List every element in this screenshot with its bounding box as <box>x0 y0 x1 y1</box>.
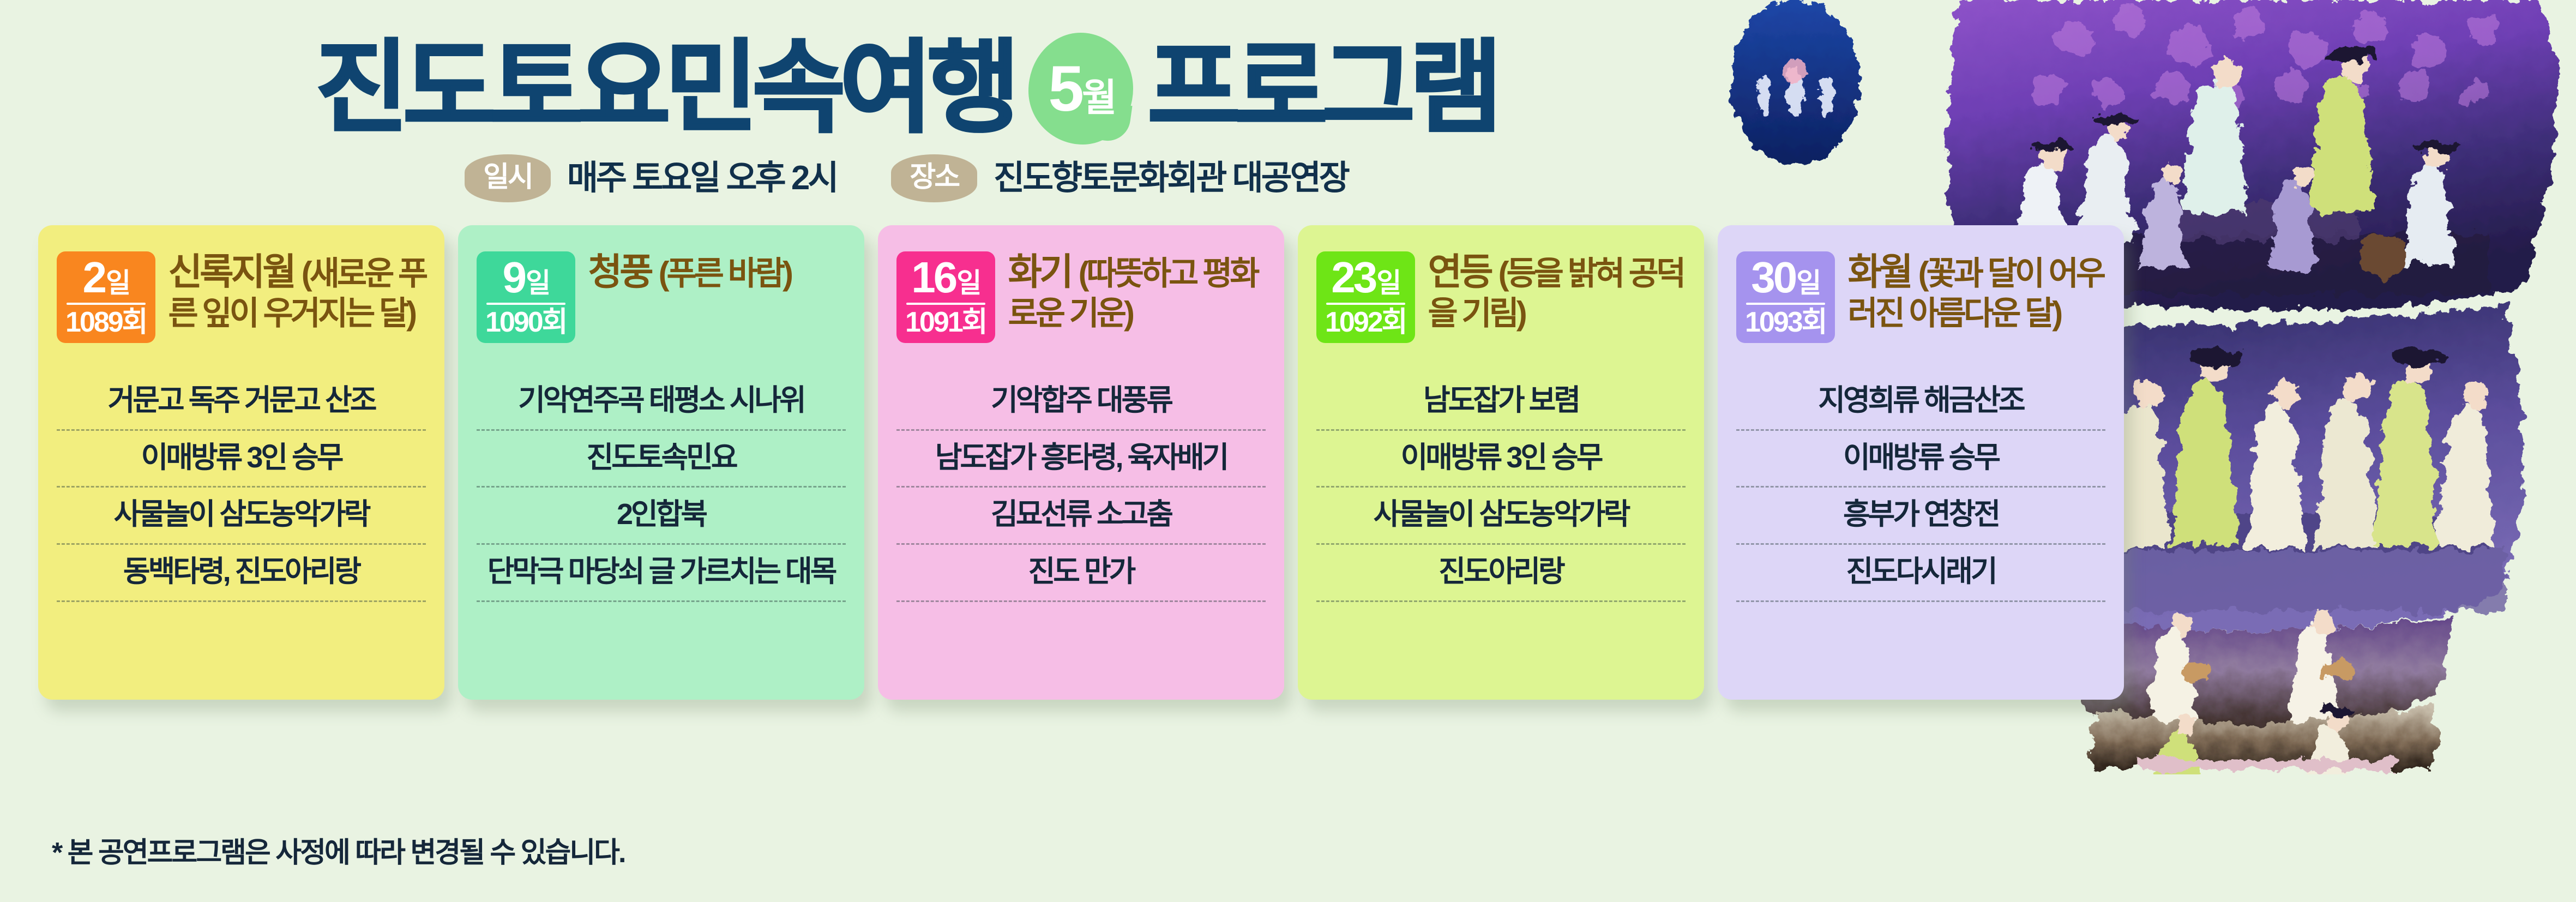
program-item: 이매방류 3인 승무 <box>57 429 426 486</box>
badge-sequence: 1092회 <box>1325 308 1406 336</box>
place-chip-label: 장소 <box>891 154 977 202</box>
badge-sequence: 1093회 <box>1745 308 1826 336</box>
event-meta: 일시 매주 토요일 오후 2시 장소 진도향토문화회관 대공연장 <box>0 154 2576 202</box>
card-title-sub: (푸른 바람) <box>659 255 791 292</box>
badge-sequence: 1089회 <box>65 308 147 336</box>
program-item: 진도다시래기 <box>1736 543 2105 600</box>
card-title-main: 화월 <box>1848 251 1911 293</box>
badge-day-unit: 일 <box>1376 270 1400 297</box>
disclaimer-note: * 본 공연프로그램은 사정에 따라 변경될 수 있습니다. <box>52 829 624 870</box>
program-list-end-divider <box>1736 600 2105 602</box>
program-card[interactable]: 23일 1092회 연등 (등을 밝혀 공덕을 기림) 남도잡가 보렴 이매방류… <box>1298 225 1704 700</box>
badge-divider <box>1326 303 1405 305</box>
badge-sequence: 1091회 <box>905 308 986 336</box>
badge-day-unit: 일 <box>956 270 980 297</box>
program-item-list: 기악합주 대풍류 남도잡가 흥타령, 육자배기 김묘선류 소고춤 진도 만가 <box>896 374 1266 602</box>
program-item-list: 남도잡가 보렴 이매방류 3인 승무 사물놀이 삼도농악가락 진도아리랑 <box>1316 374 1686 602</box>
card-header: 9일 1090회 청풍 (푸른 바람) <box>477 251 846 343</box>
program-list-end-divider <box>57 600 426 602</box>
badge-divider <box>906 303 985 305</box>
card-title-main: 청풍 <box>588 251 651 293</box>
page-title: 진도토요민속여행 5월 프로그램 <box>0 33 2576 145</box>
badge-day-number: 16 <box>911 257 955 298</box>
month-badge-text: 5월 <box>1048 57 1114 121</box>
badge-day-number: 23 <box>1331 257 1375 298</box>
program-list-end-divider <box>477 600 846 602</box>
badge-day: 30일 <box>1745 257 1826 298</box>
program-card[interactable]: 9일 1090회 청풍 (푸른 바람) 기악연주곡 태평소 시나위 진도토속민요… <box>458 225 864 700</box>
date-badge: 16일 1091회 <box>896 251 995 343</box>
badge-day: 23일 <box>1325 257 1406 298</box>
program-item: 남도잡가 흥타령, 육자배기 <box>896 429 1266 486</box>
poster-root: 진도토요민속여행 5월 프로그램 일시 매주 토요일 오후 2시 장소 진도향토… <box>0 0 2576 902</box>
collage-photo-bottom <box>2092 705 2439 774</box>
badge-day-unit: 일 <box>1796 270 1820 297</box>
card-title: 화월 (꽃과 달이 어우러진 아름다운 달) <box>1848 252 2105 333</box>
badge-divider <box>1746 303 1825 305</box>
card-title-main: 신록지월 <box>168 251 294 293</box>
badge-day-number: 2 <box>83 257 105 298</box>
date-badge: 30일 1093회 <box>1736 251 1835 343</box>
program-list-end-divider <box>896 600 1266 602</box>
badge-day: 16일 <box>905 257 986 298</box>
program-item: 기악연주곡 태평소 시나위 <box>477 374 846 429</box>
program-card[interactable]: 16일 1091회 화기 (따뜻하고 평화로운 기운) 기악합주 대풍류 남도잡… <box>878 225 1284 700</box>
program-item: 진도 만가 <box>896 543 1266 600</box>
card-title-main: 화기 <box>1008 251 1071 293</box>
program-item: 김묘선류 소고춤 <box>896 486 1266 543</box>
place-value: 진도향토문화회관 대공연장 <box>994 161 1348 195</box>
date-value: 매주 토요일 오후 2시 <box>567 161 836 195</box>
badge-day: 2일 <box>65 257 147 298</box>
program-card[interactable]: 2일 1089회 신록지월 (새로운 푸른 잎이 우거지는 달) 거문고 독주 … <box>38 225 444 700</box>
program-item: 이매방류 승무 <box>1736 429 2105 486</box>
program-list-end-divider <box>1316 600 1686 602</box>
program-item: 사물놀이 삼도농악가락 <box>57 486 426 543</box>
program-item-list: 거문고 독주 거문고 산조 이매방류 3인 승무 사물놀이 삼도농악가락 동백타… <box>57 374 426 602</box>
card-title: 연등 (등을 밝혀 공덕을 기림) <box>1428 252 1686 333</box>
program-item: 남도잡가 보렴 <box>1316 374 1686 429</box>
program-item: 기악합주 대풍류 <box>896 374 1266 429</box>
program-card[interactable]: 30일 1093회 화월 (꽃과 달이 어우러진 아름다운 달) 지영희류 해금… <box>1718 225 2124 700</box>
badge-day-unit: 일 <box>106 270 129 297</box>
card-title: 신록지월 (새로운 푸른 잎이 우거지는 달) <box>168 252 426 333</box>
program-item: 진도토속민요 <box>477 429 846 486</box>
card-header: 30일 1093회 화월 (꽃과 달이 어우러진 아름다운 달) <box>1736 251 2105 343</box>
card-header: 23일 1092회 연등 (등을 밝혀 공덕을 기림) <box>1316 251 1686 343</box>
badge-day-unit: 일 <box>526 270 549 297</box>
program-item: 지영희류 해금산조 <box>1736 374 2105 429</box>
card-title-main: 연등 <box>1428 251 1491 293</box>
title-part-2: 프로그램 <box>1147 38 1497 139</box>
card-title: 화기 (따뜻하고 평화로운 기운) <box>1008 252 1266 333</box>
badge-sequence: 1090회 <box>485 308 567 336</box>
month-number: 5 <box>1048 57 1081 121</box>
card-header: 16일 1091회 화기 (따뜻하고 평화로운 기운) <box>896 251 1266 343</box>
program-item: 동백타령, 진도아리랑 <box>57 543 426 600</box>
program-item: 사물놀이 삼도농악가락 <box>1316 486 1686 543</box>
badge-day-number: 30 <box>1751 257 1795 298</box>
program-item: 단막극 마당쇠 글 가르치는 대목 <box>477 543 846 600</box>
date-chip-label: 일시 <box>465 154 551 202</box>
program-item-list: 지영희류 해금산조 이매방류 승무 흥부가 연창전 진도다시래기 <box>1736 374 2105 602</box>
date-badge: 9일 1090회 <box>477 251 575 343</box>
title-part-1: 진도토요민속여행 <box>316 38 1015 139</box>
program-item: 흥부가 연창전 <box>1736 486 2105 543</box>
month-unit: 월 <box>1082 79 1114 117</box>
badge-day-number: 9 <box>503 257 525 298</box>
badge-day: 9일 <box>485 257 567 298</box>
program-item: 2인합북 <box>477 486 846 543</box>
program-item: 진도아리랑 <box>1316 543 1686 600</box>
date-badge: 2일 1089회 <box>57 251 155 343</box>
month-badge-icon: 5월 <box>1028 33 1133 145</box>
badge-divider <box>67 303 146 305</box>
program-card-list: 2일 1089회 신록지월 (새로운 푸른 잎이 우거지는 달) 거문고 독주 … <box>38 225 2372 700</box>
badge-divider <box>486 303 565 305</box>
program-item: 이매방류 3인 승무 <box>1316 429 1686 486</box>
poster-header: 진도토요민속여행 5월 프로그램 일시 매주 토요일 오후 2시 장소 진도향토… <box>0 0 2576 202</box>
program-item: 거문고 독주 거문고 산조 <box>57 374 426 429</box>
program-item-list: 기악연주곡 태평소 시나위 진도토속민요 2인합북 단막극 마당쇠 글 가르치는… <box>477 374 846 602</box>
date-badge: 23일 1092회 <box>1316 251 1415 343</box>
card-title: 청풍 (푸른 바람) <box>588 252 791 292</box>
card-header: 2일 1089회 신록지월 (새로운 푸른 잎이 우거지는 달) <box>57 251 426 343</box>
